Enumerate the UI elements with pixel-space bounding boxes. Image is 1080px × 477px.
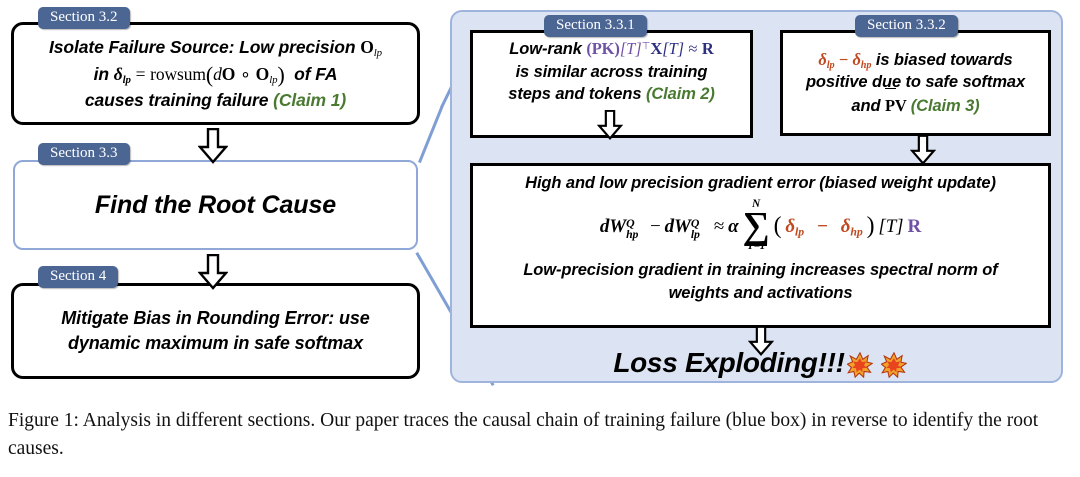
down-arrow-2 <box>198 254 228 295</box>
down-arrow-3 <box>597 110 623 145</box>
formula-PK: (PK) <box>586 39 620 58</box>
collision-explosion-icon-1 <box>847 352 873 378</box>
lowrank-line-2: is similar across training <box>473 62 750 83</box>
isolate-line-2: in δlp = rowsum(dO ∘ Olp) of FA <box>14 59 417 87</box>
claim3-line-2: positive due to safe softmax <box>783 72 1048 93</box>
claim-1-label: (Claim 1) <box>273 90 346 110</box>
loss-exploding-label: Loss Exploding!!! <box>613 347 844 379</box>
claim3-line-1: δlp − δhp is biased towards <box>783 49 1048 71</box>
box-mitigate-bias: Mitigate Bias in Rounding Error: use dyn… <box>11 283 420 379</box>
tab-section-3-2-label: Section 3.2 <box>50 9 118 25</box>
symbol-delta-lp-minus-hp: δlp − δhp <box>818 50 871 69</box>
gradient-line-1: High and low precision gradient error (b… <box>473 173 1048 194</box>
isolate-line-3: causes training failure (Claim 1) <box>14 89 417 112</box>
claim-2-label: (Claim 2) <box>646 85 715 103</box>
spectral-line-2: weights and activations <box>473 283 1048 304</box>
figure-caption: Figure 1: Analysis in different sections… <box>8 407 1072 462</box>
box-claim-3: δlp − δhp is biased towards positive due… <box>780 30 1051 136</box>
tab-section-3-3-1[interactable]: Section 3.3.1 <box>544 15 647 37</box>
symbol-delta-lp: δlp <box>114 64 131 84</box>
isolate-line-1: Isolate Failure Source: Low precision Ol… <box>14 36 417 59</box>
symbol-PbarV: PV <box>885 96 911 115</box>
formula-R: R <box>702 39 714 58</box>
symbol-O-lp: Olp <box>360 37 382 57</box>
collision-explosion-icon-2 <box>881 352 907 378</box>
claim3-line-3: and PV (Claim 3) <box>783 95 1048 117</box>
summation-operator: N ∑ T=1 <box>743 199 770 252</box>
tab-section-4-label: Section 4 <box>50 268 106 284</box>
tab-section-3-3-label: Section 3.3 <box>50 145 118 161</box>
mitigate-line-1: Mitigate Bias in Rounding Error: use <box>61 307 369 330</box>
down-arrow-4 <box>910 135 936 170</box>
down-arrow-1 <box>198 128 228 169</box>
symbol-O-lp-2: Olp <box>256 64 278 84</box>
box-find-the-root-cause: Find the Root Cause <box>13 160 418 250</box>
down-arrow-5 <box>748 326 774 361</box>
claim-3-label: (Claim 3) <box>911 97 980 115</box>
rowsum-operator: rowsum <box>150 64 206 84</box>
tab-section-3-3-2-label: Section 3.3.2 <box>867 17 946 33</box>
figure-diagram: Isolate Failure Source: Low precision Ol… <box>0 0 1080 400</box>
tab-section-3-3-1-label: Section 3.3.1 <box>556 17 635 33</box>
box-isolate-failure-source: Isolate Failure Source: Low precision Ol… <box>11 22 420 125</box>
spectral-line-1: Low-precision gradient in training incre… <box>473 260 1048 281</box>
mitigate-line-2: dynamic maximum in safe softmax <box>61 332 369 355</box>
tab-section-4[interactable]: Section 4 <box>38 266 118 288</box>
tab-section-3-2[interactable]: Section 3.2 <box>38 7 130 29</box>
tab-section-3-3[interactable]: Section 3.3 <box>38 143 130 165</box>
tab-section-3-3-2[interactable]: Section 3.3.2 <box>855 15 958 37</box>
box-gradient-error: High and low precision gradient error (b… <box>470 163 1051 328</box>
lowrank-line-3: steps and tokens (Claim 2) <box>473 84 750 105</box>
root-cause-label: Find the Root Cause <box>95 191 336 219</box>
callout-line-top <box>418 106 443 163</box>
gradient-formula: dWQhp − dWQlp ≈ α N ∑ T=1 (δlp − δhp)[T]… <box>473 200 1048 253</box>
lowrank-line-1: Low-rank (PK)[T]⊤X[T] ≈ R <box>473 38 750 60</box>
